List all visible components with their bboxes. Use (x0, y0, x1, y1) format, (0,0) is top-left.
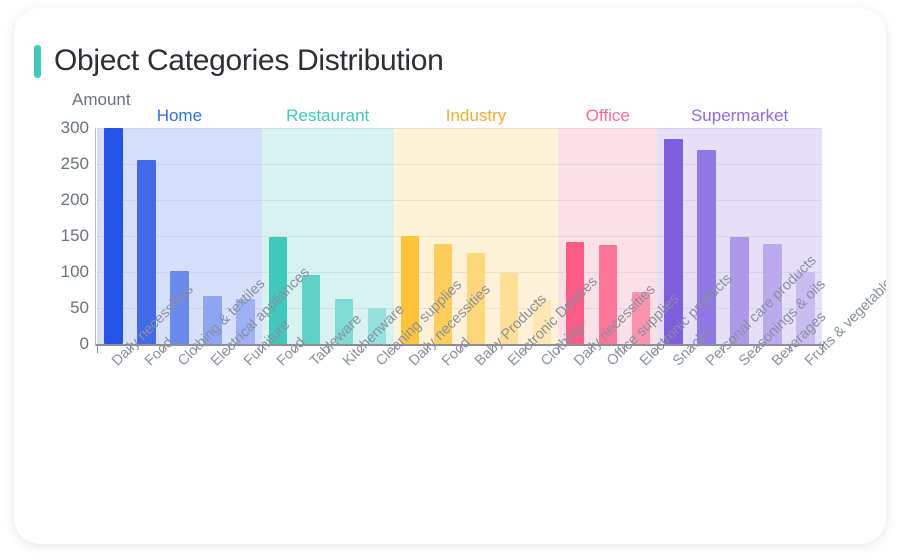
y-tick-label: 200 (45, 190, 89, 210)
y-tick-label: 300 (45, 118, 89, 138)
bar[interactable] (302, 275, 320, 344)
group-label-office: Office (586, 106, 630, 126)
y-axis-title: Amount (72, 90, 131, 110)
y-tick-label: 250 (45, 154, 89, 174)
group-label-home: Home (157, 106, 202, 126)
y-axis-line (95, 128, 96, 346)
y-tick-label: 100 (45, 262, 89, 282)
bar[interactable] (104, 128, 122, 344)
group-label-restaurant: Restaurant (286, 106, 369, 126)
y-tick-label: 0 (45, 334, 89, 354)
group-label-industry: Industry (446, 106, 506, 126)
group-label-supermarket: Supermarket (691, 106, 788, 126)
y-tick-label: 50 (45, 298, 89, 318)
x-tick (97, 346, 98, 353)
bar-chart: Amount 050100150200250300 Daily necessit… (14, 8, 886, 544)
y-tick-label: 150 (45, 226, 89, 246)
chart-card: Object Categories Distribution Amount 05… (14, 8, 886, 544)
